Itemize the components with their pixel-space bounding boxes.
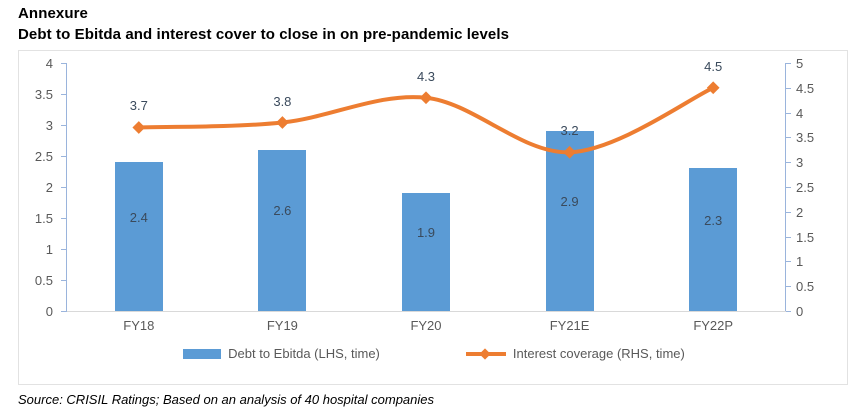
right-axis-tick-label: 4.5 <box>796 82 814 95</box>
left-axis-tick-label: 2.5 <box>35 150 53 163</box>
bar-value-label-fy19: 2.6 <box>258 204 306 217</box>
line-value-label-fy18: 3.7 <box>109 99 169 112</box>
left-axis-tick-label: 0.5 <box>35 274 53 287</box>
bar-value-label-fy20: 1.9 <box>402 226 450 239</box>
right-axis-tick <box>786 162 791 163</box>
x-axis-label-fy22p: FY22P <box>641 319 785 333</box>
line-value-label-fy20: 4.3 <box>396 70 456 83</box>
left-axis-tick <box>61 63 66 64</box>
legend-label-debt-to-ebitda: Debt to Ebitda (LHS, time) <box>228 347 380 361</box>
left-axis-tick-label: 3 <box>46 119 53 132</box>
bar-value-label-fy18: 2.4 <box>115 211 163 224</box>
left-axis-tick <box>61 125 66 126</box>
right-axis-tick <box>786 113 791 114</box>
left-axis-tick-label: 1.5 <box>35 212 53 225</box>
chart-frame: 00.511.522.533.54 00.511.522.533.544.55 … <box>18 50 848 385</box>
left-axis-tick <box>61 311 66 312</box>
line-marker-fy19[interactable] <box>276 116 289 129</box>
right-axis-tick-label: 0.5 <box>796 280 814 293</box>
right-axis-tick-label: 2 <box>796 206 803 219</box>
right-axis-tick-label: 0 <box>796 305 803 318</box>
bar-swatch-icon <box>183 349 221 359</box>
right-axis-tick <box>786 212 791 213</box>
line-marker-fy22p[interactable] <box>707 81 720 94</box>
right-axis-tick-label: 1 <box>796 255 803 268</box>
left-axis-tick-label: 1 <box>46 243 53 256</box>
right-axis-tick <box>786 311 791 312</box>
left-axis-tick-label: 4 <box>46 57 53 70</box>
x-axis-label-fy18: FY18 <box>67 319 211 333</box>
plot-area: 2.42.61.92.92.3 3.73.84.33.24.5 <box>67 63 785 311</box>
left-axis-tick <box>61 280 66 281</box>
right-axis-tick-label: 4 <box>796 107 803 120</box>
chart-legend: Debt to Ebitda (LHS, time) Interest cove… <box>19 347 849 361</box>
left-axis-tick-label: 2 <box>46 181 53 194</box>
interest-coverage-line <box>139 88 713 153</box>
right-axis-tick <box>786 137 791 138</box>
x-axis-label-fy20: FY20 <box>354 319 498 333</box>
left-axis-tick <box>61 187 66 188</box>
right-axis-tick <box>786 261 791 262</box>
x-axis-label-fy21e: FY21E <box>498 319 642 333</box>
x-axis-line <box>67 311 786 312</box>
chart-subtitle: Debt to Ebitda and interest cover to clo… <box>18 24 838 45</box>
annexure-title: Annexure <box>18 4 838 24</box>
line-value-label-fy21e: 3.2 <box>540 124 600 137</box>
left-axis-tick-label: 3.5 <box>35 88 53 101</box>
left-axis-tick <box>61 156 66 157</box>
heading-block: Annexure Debt to Ebitda and interest cov… <box>18 4 838 45</box>
bar-value-label-fy22p: 2.3 <box>689 214 737 227</box>
bar-fy21e[interactable] <box>546 131 594 311</box>
line-diamond-swatch-icon <box>466 347 506 361</box>
bar-fy22p[interactable] <box>689 168 737 311</box>
bar-fy18[interactable] <box>115 162 163 311</box>
left-axis-tick-label: 0 <box>46 305 53 318</box>
right-axis-tick <box>786 237 791 238</box>
line-marker-fy20[interactable] <box>420 91 433 104</box>
right-axis-tick <box>786 187 791 188</box>
legend-item-interest-coverage[interactable]: Interest coverage (RHS, time) <box>466 347 685 361</box>
right-axis-tick-label: 1.5 <box>796 231 814 244</box>
right-axis-tick <box>786 63 791 64</box>
right-axis-tick <box>786 88 791 89</box>
source-note: Source: CRISIL Ratings; Based on an anal… <box>18 392 434 408</box>
right-axis-tick <box>786 286 791 287</box>
right-axis-tick-label: 3 <box>796 156 803 169</box>
line-marker-fy18[interactable] <box>132 121 145 134</box>
bar-fy20[interactable] <box>402 193 450 311</box>
x-axis-label-fy19: FY19 <box>211 319 355 333</box>
bar-fy19[interactable] <box>258 150 306 311</box>
left-axis-tick <box>61 218 66 219</box>
right-axis-tick-label: 2.5 <box>796 181 814 194</box>
line-value-label-fy19: 3.8 <box>252 95 312 108</box>
legend-item-debt-to-ebitda[interactable]: Debt to Ebitda (LHS, time) <box>183 347 380 361</box>
bar-value-label-fy21e: 2.9 <box>546 195 594 208</box>
right-axis-tick-label: 3.5 <box>796 131 814 144</box>
line-value-label-fy22p: 4.5 <box>683 60 743 73</box>
legend-label-interest-coverage: Interest coverage (RHS, time) <box>513 347 685 361</box>
left-axis-tick <box>61 94 66 95</box>
right-axis-tick-label: 5 <box>796 57 803 70</box>
left-axis-tick <box>61 249 66 250</box>
